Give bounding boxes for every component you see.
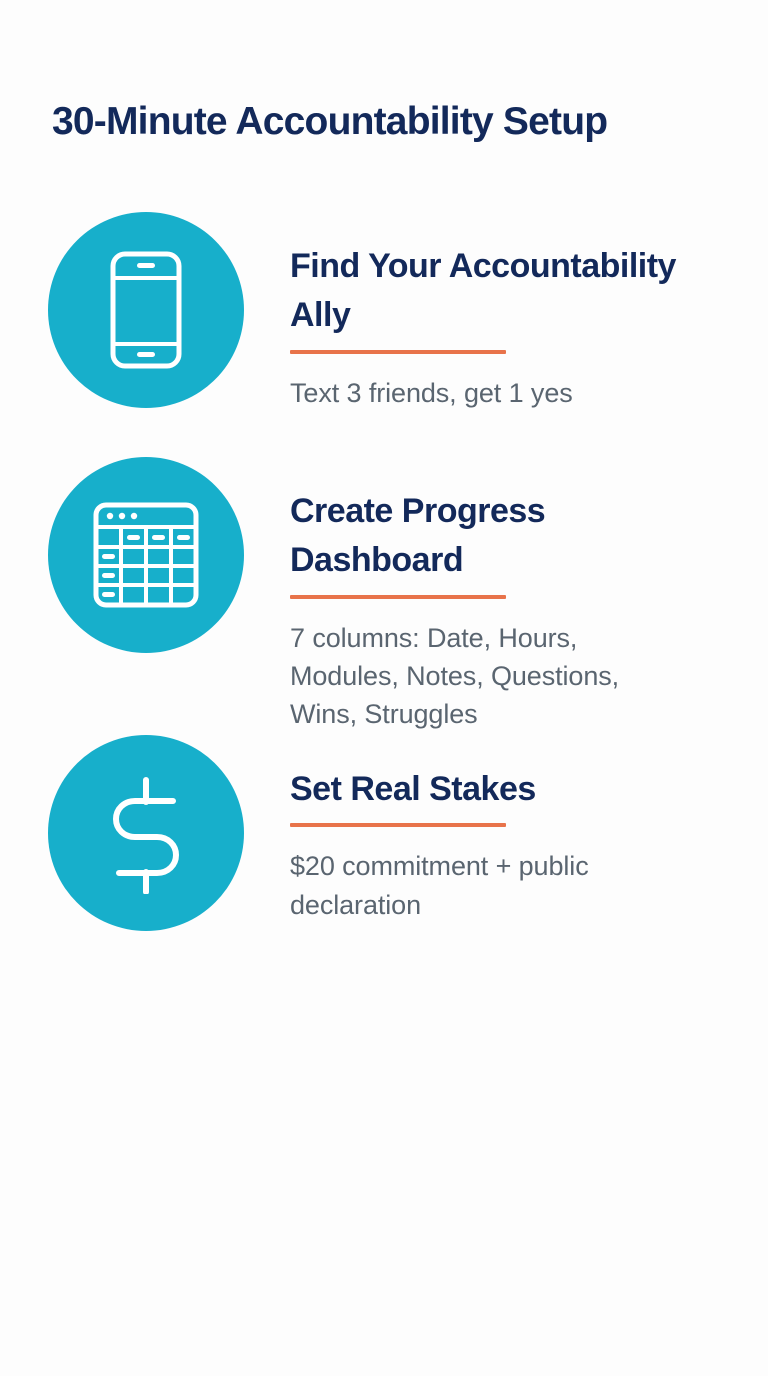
step-heading: Set Real Stakes bbox=[290, 765, 690, 814]
list-item: Set Real Stakes $20 commitment + public … bbox=[0, 735, 768, 980]
accent-rule bbox=[290, 595, 506, 599]
infographic-page: 30-Minute Accountability Setup Find Your… bbox=[0, 0, 768, 1376]
step-icon-badge bbox=[48, 212, 244, 408]
steps-list: Find Your Accountability Ally Text 3 fri… bbox=[0, 212, 768, 980]
accent-rule bbox=[290, 823, 506, 827]
step-text-block: Set Real Stakes $20 commitment + public … bbox=[244, 735, 768, 924]
step-heading: Create Progress Dashboard bbox=[290, 487, 690, 586]
step-description: Text 3 friends, get 1 yes bbox=[290, 374, 690, 412]
step-text-block: Find Your Accountability Ally Text 3 fri… bbox=[244, 212, 768, 412]
step-icon-badge bbox=[48, 735, 244, 931]
spreadsheet-dashboard-icon bbox=[92, 501, 200, 609]
step-description: 7 columns: Date, Hours, Modules, Notes, … bbox=[290, 619, 690, 734]
smartphone-icon bbox=[109, 250, 183, 370]
step-icon-badge bbox=[48, 457, 244, 653]
step-heading: Find Your Accountability Ally bbox=[290, 242, 690, 341]
list-item: Find Your Accountability Ally Text 3 fri… bbox=[0, 212, 768, 457]
step-text-block: Create Progress Dashboard 7 columns: Dat… bbox=[244, 457, 768, 734]
page-title: 30-Minute Accountability Setup bbox=[52, 100, 607, 145]
dollar-sign-icon bbox=[103, 772, 189, 894]
accent-rule bbox=[290, 350, 506, 354]
step-description: $20 commitment + public declaration bbox=[290, 847, 690, 924]
list-item: Create Progress Dashboard 7 columns: Dat… bbox=[0, 457, 768, 735]
